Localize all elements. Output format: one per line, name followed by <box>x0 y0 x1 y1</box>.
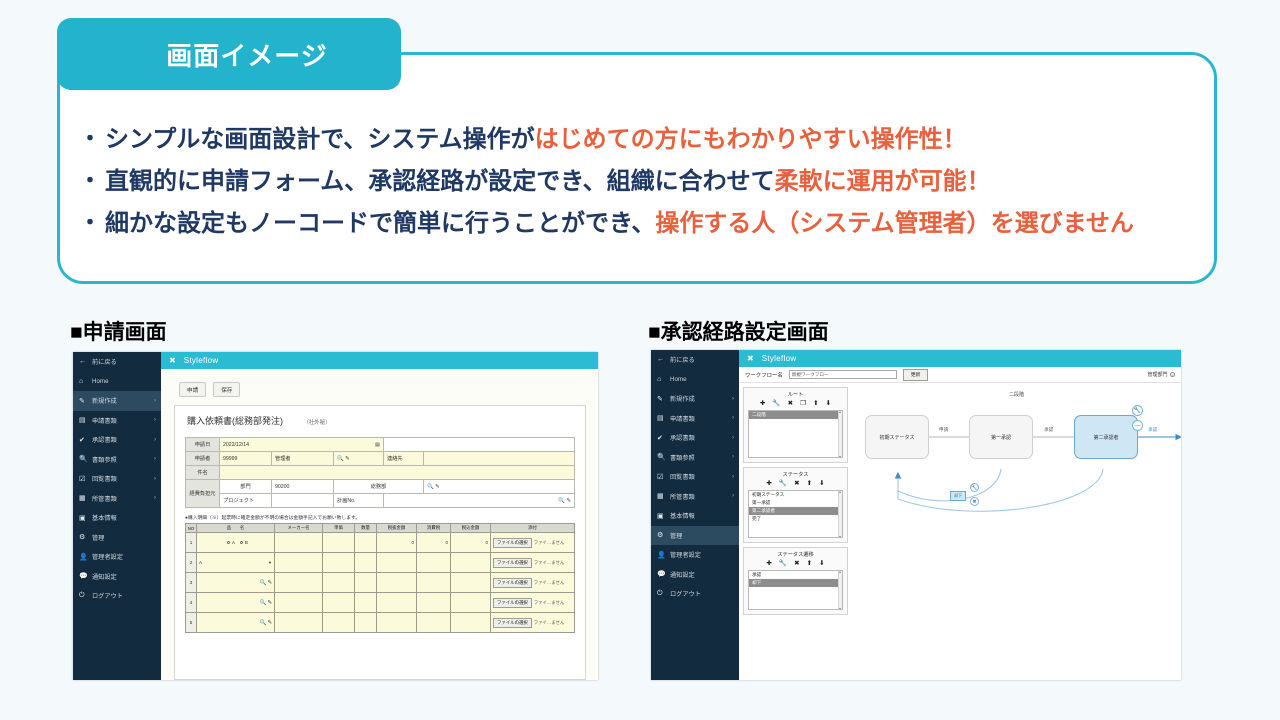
document-icon: ▤ <box>79 416 92 424</box>
bullet-item: ・ 直観的に申請フォーム、承認経路が設定でき、組織に合わせて 柔軟に運用が可能！ <box>75 170 1195 194</box>
list-item[interactable]: 完了 <box>749 515 842 523</box>
search-icon[interactable]: 🔍 <box>259 620 266 626</box>
close-icon[interactable]: ✖ <box>169 356 176 365</box>
chat-icon: 💬 <box>79 572 92 580</box>
delete-icon[interactable]: ✖ <box>794 559 800 567</box>
field-value-applicant-name: 管理者 <box>272 452 334 466</box>
id-card-icon: ▣ <box>79 514 92 522</box>
field-label-cost-owner: 経費負担元 <box>186 480 220 508</box>
pencil-icon[interactable]: ✎ <box>345 456 350 462</box>
sidebar-item-label: 承認書類 <box>670 433 732 442</box>
sidebar-item-jurisdiction[interactable]: ▦ 所管書類 › <box>73 489 161 509</box>
radio-b-icon[interactable] <box>240 541 243 544</box>
sidebar-item-admin-settings[interactable]: 👤 管理者設定 <box>651 545 739 565</box>
column-header-name: 品 名 <box>197 524 275 533</box>
chevron-right-icon: › <box>154 476 156 482</box>
panel-title-route: ルート <box>744 388 847 399</box>
bullet-marker: ・ <box>75 170 105 192</box>
sidebar-item-admin[interactable]: ⚙ 管理 <box>73 528 161 548</box>
add-icon[interactable]: ✚ <box>766 559 772 567</box>
cell-tax <box>417 573 451 593</box>
cell-incl-tax: 0 <box>451 533 491 553</box>
list-item[interactable]: 第一承認 <box>749 499 842 507</box>
cell-price[interactable] <box>323 553 355 573</box>
cell-attachment: ファイルの選択ファイ…ません <box>491 573 575 593</box>
cell-attachment: ファイルの選択ファイ…ません <box>491 533 575 553</box>
panel-toolbar: ✚ 🔧 ✖ ⬆ ⬇ <box>744 479 847 490</box>
checkbox-icon: ☑ <box>657 473 670 481</box>
sidebar-item-label: 通知設定 <box>92 572 156 581</box>
sidebar-item-label: 所管書類 <box>92 494 154 503</box>
chevron-right-icon: › <box>732 474 734 480</box>
search-icon: 🔍 <box>657 453 670 461</box>
sidebar-item-label: 管理者設定 <box>670 550 734 559</box>
cell-no: 2 <box>186 553 197 573</box>
save-button[interactable]: 保存 <box>213 382 240 397</box>
panel-toolbar: ✚ 🔧 ✖ ⬆ ⬇ <box>744 559 847 570</box>
sidebar-item-label: 前に戻る <box>670 355 734 364</box>
empty-cell <box>384 438 575 452</box>
sidebar-item-approvals[interactable]: ✔ 承認書類 › <box>73 430 161 450</box>
sidebar-item-approvals[interactable]: ✔ 承認書類 › <box>651 428 739 448</box>
bullet-text-plain: 細かな設定もノーコードで簡単に行うことができ、 <box>105 212 655 236</box>
calendar-icon[interactable]: ▤ <box>375 442 380 448</box>
status-panel: ステータス ✚ 🔧 ✖ ⬆ ⬇ 初期ステータス 第一承認 第二承認者 完了 <box>743 467 848 543</box>
file-select-button[interactable]: ファイルの選択 <box>493 578 532 588</box>
wrench-icon[interactable]: 🔧 <box>779 559 787 567</box>
move-up-icon[interactable]: ⬆ <box>813 399 819 407</box>
cell-attachment: ファイルの選択ファイ…ません <box>491 593 575 613</box>
sidebar-item-label: 書類参照 <box>92 455 154 464</box>
section-heading-route: ■承認経路設定画面 <box>648 316 829 346</box>
sidebar-item-label: 管理 <box>92 533 156 542</box>
delete-icon[interactable]: ✖ <box>794 479 800 487</box>
grid-icon: ▦ <box>79 494 92 502</box>
column-header-no: NO <box>186 524 197 533</box>
column-header-attachment: 添付 <box>491 524 575 533</box>
cell-excl-tax <box>377 593 417 613</box>
close-icon[interactable]: ✖ <box>747 354 754 363</box>
bullet-item: ・ 細かな設定もノーコードで簡単に行うことができ、 操作する人（システム管理者）… <box>75 212 1195 236</box>
radio-a-icon[interactable] <box>227 541 230 544</box>
search-icon[interactable]: 🔍 <box>337 456 344 462</box>
date-value-text: 2022/12/14 <box>223 442 249 448</box>
route-tool-panels: ルート ✚ 🔧 ✖ ❐ ⬆ ⬇ 二段階 ステータス ✚ 🔧 <box>743 387 848 619</box>
sidebar-item-label: 申請書類 <box>92 416 154 425</box>
sidebar-item-reference[interactable]: 🔍 書類参照 › <box>651 448 739 468</box>
app-header: ✖ Styleflow <box>161 352 598 369</box>
list-item[interactable]: 第二承認者 <box>749 507 842 515</box>
form-subtitle: （社外秘） <box>304 420 331 426</box>
search-icon: 🔍 <box>79 455 92 463</box>
workflow-toolbar: ワークフロー名 新規ワークフロー 更新 管理部門 i <box>739 367 1181 383</box>
form-panel: 購入依頼書(総務部発注) （社外秘） 申請日 2022/12/14 ▤ 申請者 … <box>174 405 586 680</box>
status-transition-panel: ステータス遷移 ✚ 🔧 ✖ ⬆ ⬇ 承認 却下 <box>743 547 848 615</box>
request-screen-screenshot: ← 前に戻る ⌂ Home ✎ 新規作成 › ▤ 申請書類 › ✔ 承認書類 ›… <box>73 352 598 680</box>
user-icon: 👤 <box>657 551 670 559</box>
chevron-right-icon: › <box>154 437 156 443</box>
callout-tab: 画面イメージ <box>57 18 401 90</box>
id-card-icon: ▣ <box>657 512 670 520</box>
sidebar-item-label: 承認書類 <box>92 435 154 444</box>
status-list[interactable]: 初期ステータス 第一承認 第二承認者 完了 <box>748 490 843 538</box>
table-row: 4 🔍 ✎ ファイルの選択ファイ…ません <box>186 593 575 613</box>
pencil-icon[interactable]: ✎ <box>267 580 272 586</box>
wrench-icon[interactable]: 🔧 <box>779 479 787 487</box>
edge-delete-icon[interactable]: ✖ <box>970 497 979 506</box>
pencil-icon[interactable]: ✎ <box>566 498 571 504</box>
file-status-text: ファイ…ません <box>534 600 565 605</box>
edge-label-approve-2: 承認 <box>1148 427 1157 433</box>
cell-tax <box>417 613 451 633</box>
table-row: 申請者 99999 管理者 🔍 ✎ 連絡先 <box>186 452 575 466</box>
panel-title-status: ステータス <box>744 468 847 479</box>
form-action-buttons: 申請 保存 <box>179 382 240 397</box>
column-header-incl-tax: 税込金額 <box>451 524 491 533</box>
cell-no: 1 <box>186 533 197 553</box>
bullet-item: ・ シンプルな画面設計で、システム操作が はじめての方にもわかりやすい操作性！ <box>75 128 1195 152</box>
field-label-department: 部門 <box>220 480 272 494</box>
pencil-icon: ✎ <box>657 395 670 403</box>
checkbox-icon: ☑ <box>79 475 92 483</box>
table-row: プロジェクト 計画No. 🔍 ✎ <box>186 494 575 508</box>
document-icon: ▤ <box>657 414 670 422</box>
radio-a-label: A <box>232 540 235 545</box>
file-status-text: ファイ…ません <box>534 620 565 625</box>
search-icon[interactable]: 🔍 <box>427 484 434 490</box>
cell-no: 5 <box>186 613 197 633</box>
table-row: 3 🔍 ✎ ファイルの選択ファイ…ません <box>186 573 575 593</box>
bullet-text-highlight: はじめての方にもわかりやすい操作性！ <box>535 128 967 152</box>
sidebar-item-label: 管理者設定 <box>92 552 156 561</box>
edge-label-approve-1: 承認 <box>1044 427 1053 433</box>
edge-label-apply: 申請 <box>939 427 948 433</box>
field-label-plan-no: 計画No. <box>334 494 384 508</box>
pencil-icon[interactable]: ✎ <box>435 484 440 490</box>
check-icon: ✔ <box>657 434 670 442</box>
chevron-right-icon: › <box>732 415 734 421</box>
update-button[interactable]: 更新 <box>903 369 929 381</box>
cell-incl-tax <box>451 573 491 593</box>
user-icon: 👤 <box>79 553 92 561</box>
list-item[interactable]: 承認 <box>749 571 842 579</box>
workflow-name-input[interactable]: 新規ワークフロー <box>789 370 897 379</box>
field-label-date: 申請日 <box>186 438 220 452</box>
node-label: 第一承認 <box>991 434 1011 441</box>
app-header: ✖ Styleflow <box>739 350 1181 367</box>
chevron-right-icon: › <box>154 398 156 404</box>
sidebar-left: ← 前に戻る ⌂ Home ✎ 新規作成 › ▤ 申請書類 › ✔ 承認書類 ›… <box>73 352 161 680</box>
bullet-list: ・ シンプルな画面設計で、システム操作が はじめての方にもわかりやすい操作性！ … <box>75 128 1195 254</box>
route-panel: ルート ✚ 🔧 ✖ ❐ ⬆ ⬇ 二段階 <box>743 387 848 463</box>
sidebar-item-label: ログアウト <box>92 591 156 600</box>
cell-price[interactable] <box>323 573 355 593</box>
chevron-right-icon: › <box>154 417 156 423</box>
sidebar-item-applications[interactable]: ▤ 申請書類 › <box>651 409 739 429</box>
chevron-right-icon: › <box>732 435 734 441</box>
file-select-button[interactable]: ファイルの選択 <box>493 598 532 608</box>
field-label-subject: 件名 <box>186 466 220 480</box>
sidebar-right: ← 前に戻る ⌂ Home ✎ 新規作成 › ▤ 申請書類 › ✔ 承認書類 ›… <box>651 350 739 680</box>
sidebar-item-label: 基本情報 <box>92 513 156 522</box>
sidebar-item-label: 新規作成 <box>92 396 154 405</box>
scrollbar[interactable] <box>838 491 842 537</box>
route-setting-screen-screenshot: ← 前に戻る ⌂ Home ✎ 新規作成 › ▤ 申請書類 › ✔ 承認書類 ›… <box>651 350 1181 680</box>
pencil-icon: ✎ <box>79 397 92 405</box>
submit-button[interactable]: 申請 <box>179 382 206 397</box>
field-value-date[interactable]: 2022/12/14 ▤ <box>220 438 384 452</box>
cell-price[interactable] <box>323 613 355 633</box>
sidebar-item-label: ログアウト <box>670 589 734 598</box>
cell-no: 3 <box>186 573 197 593</box>
workflow-node-initial[interactable]: 初期ステータス <box>865 415 929 459</box>
chat-icon: 💬 <box>657 570 670 578</box>
sidebar-item-label: 前に戻る <box>92 357 156 366</box>
table-row: 2 A▼ ファイルの選択ファイ…ません <box>186 553 575 573</box>
edge-edit-wrench-icon[interactable]: 🔧 <box>970 483 979 492</box>
workflow-node-second-approver[interactable]: 第二承認者 <box>1074 415 1138 459</box>
cell-maker[interactable] <box>275 613 323 633</box>
table-header-row: NO 品 名 メーカー名 単価 数量 税抜金額 消費税 税込金額 添付 <box>186 524 575 533</box>
request-form-body: 申請 保存 購入依頼書(総務部発注) （社外秘） 申請日 2022/12/14 … <box>161 369 598 680</box>
radio-b-label: B <box>245 540 248 545</box>
owner-department-label: 管理部門 <box>1147 371 1167 378</box>
move-down-icon[interactable]: ⬇ <box>819 559 825 567</box>
sidebar-item-label: 基本情報 <box>670 511 734 520</box>
column-header-qty: 数量 <box>355 524 377 533</box>
pencil-icon[interactable]: ✎ <box>267 620 272 626</box>
cell-maker[interactable] <box>275 593 323 613</box>
chevron-right-icon: › <box>732 396 734 402</box>
sidebar-item-reference[interactable]: 🔍 書類参照 › <box>73 450 161 470</box>
search-icon[interactable]: 🔍 <box>259 580 266 586</box>
cell-tax <box>417 593 451 613</box>
cell-qty[interactable] <box>355 593 377 613</box>
arrow-left-icon: ← <box>657 356 670 363</box>
node-label: 初期ステータス <box>879 434 914 441</box>
chevron-down-icon[interactable]: ▼ <box>268 560 272 565</box>
sidebar-item-label: 回覧書類 <box>670 472 732 481</box>
file-status-text: ファイ…ません <box>534 540 565 545</box>
scrollbar[interactable] <box>838 411 842 457</box>
callout-tab-label: 画面イメージ <box>130 36 327 73</box>
node-label: 第二承認者 <box>1093 434 1118 441</box>
edge-label-reject[interactable]: 却下 <box>950 491 966 501</box>
cell-name[interactable]: A B <box>197 533 275 553</box>
search-icon[interactable]: 🔍 <box>259 600 266 606</box>
field-label-contact: 連絡先 <box>384 452 424 466</box>
canvas-route-title: 二段階 <box>1009 391 1024 398</box>
sidebar-item-admin-settings[interactable]: 👤 管理者設定 <box>73 547 161 567</box>
cell-price[interactable] <box>323 533 355 553</box>
sidebar-item-label: 申請書類 <box>670 414 732 423</box>
workflow-canvas[interactable]: 二段階 初期ステータス 第一承認 第二承認者 申請 承認 承認 🔧 — 却下 🔧… <box>851 387 1181 680</box>
move-down-icon[interactable]: ⬇ <box>819 479 825 487</box>
home-icon: ⌂ <box>657 376 670 383</box>
file-status-text: ファイ…ません <box>534 560 565 565</box>
department-lookup-cell[interactable]: 🔍 ✎ <box>424 480 575 494</box>
sidebar-item-label: Home <box>92 378 156 385</box>
sidebar-item-notifications[interactable]: 💬 通知設定 <box>73 567 161 587</box>
file-select-button[interactable]: ファイルの選択 <box>493 618 532 628</box>
file-select-button[interactable]: ファイルの選択 <box>493 538 532 548</box>
arrow-left-icon: ← <box>79 358 92 365</box>
owner-department: 管理部門 i <box>1147 371 1175 378</box>
sidebar-item-new[interactable]: ✎ 新規作成 › <box>73 391 161 411</box>
copy-icon[interactable]: ❐ <box>800 399 806 407</box>
column-header-tax: 消費税 <box>417 524 451 533</box>
cell-incl-tax <box>451 553 491 573</box>
cell-qty[interactable] <box>355 573 377 593</box>
info-icon[interactable]: i <box>1170 372 1176 378</box>
sidebar-item-logout[interactable]: ⏻ ログアウト <box>73 586 161 606</box>
grid-icon: ▦ <box>657 492 670 500</box>
sidebar-item-back[interactable]: ← 前に戻る <box>73 352 161 372</box>
cell-maker[interactable] <box>275 573 323 593</box>
section-heading-request: ■申請画面 <box>70 316 167 346</box>
table-row: 1 A B 0 0 0 ファイルの選択ファイ…ません <box>186 533 575 553</box>
sidebar-item-applications[interactable]: ▤ 申請書類 › <box>73 411 161 431</box>
column-header-maker: メーカー名 <box>275 524 323 533</box>
move-down-icon[interactable]: ⬇ <box>826 399 832 407</box>
node-collapse-icon[interactable]: — <box>1132 420 1143 431</box>
route-setting-body: ワークフロー名 新規ワークフロー 更新 管理部門 i ルート ✚ 🔧 ✖ ❐ ⬆… <box>739 367 1181 680</box>
list-item[interactable]: 初期ステータス <box>749 491 842 499</box>
bullet-marker: ・ <box>75 212 105 234</box>
sidebar-item-label: 書類参照 <box>670 453 732 462</box>
purchase-items-table: NO 品 名 メーカー名 単価 数量 税抜金額 消費税 税込金額 添付 1 A … <box>185 523 575 633</box>
add-icon[interactable]: ✚ <box>766 479 772 487</box>
cell-incl-tax <box>451 613 491 633</box>
pencil-icon[interactable]: ✎ <box>267 600 272 606</box>
app-brand: Styleflow <box>762 354 797 363</box>
panel-toolbar: ✚ 🔧 ✖ ❐ ⬆ ⬇ <box>744 399 847 410</box>
sidebar-item-notifications[interactable]: 💬 通知設定 <box>651 565 739 585</box>
sidebar-item-label: 回覧書類 <box>92 474 154 483</box>
cell-tax: 0 <box>417 533 451 553</box>
table-row: 件名 <box>186 466 575 480</box>
sidebar-item-label: 新規作成 <box>670 394 732 403</box>
cell-excl-tax <box>377 573 417 593</box>
field-value-department-name: 総務部 <box>334 480 424 494</box>
cell-name[interactable]: 🔍 ✎ <box>197 593 275 613</box>
field-label-applicant: 申請者 <box>186 452 220 466</box>
sidebar-item-label: Home <box>670 376 734 383</box>
bullet-text-highlight: 柔軟に運用が可能！ <box>775 170 991 194</box>
table-row: 5 🔍 ✎ ファイルの選択ファイ…ません <box>186 613 575 633</box>
node-edit-wrench-icon[interactable]: 🔧 <box>1132 405 1143 416</box>
route-list[interactable]: 二段階 <box>748 410 843 458</box>
bullet-text-highlight: 操作する人（システム管理者）を選びません <box>655 212 1134 236</box>
cell-attachment: ファイルの選択ファイ…ません <box>491 613 575 633</box>
chevron-right-icon: › <box>154 495 156 501</box>
sidebar-item-basic-info[interactable]: ▣ 基本情報 <box>651 506 739 526</box>
workflow-node-first-approval[interactable]: 第一承認 <box>969 415 1033 459</box>
logout-icon: ⏻ <box>79 592 92 600</box>
field-value-department-code[interactable]: 90200 <box>272 480 334 494</box>
chevron-right-icon: › <box>732 454 734 460</box>
table-row: 申請日 2022/12/14 ▤ <box>186 438 575 452</box>
wrench-icon[interactable]: 🔧 <box>772 399 780 407</box>
column-header-price: 単価 <box>323 524 355 533</box>
plan-lookup-cell[interactable]: 🔍 ✎ <box>384 494 575 508</box>
search-icon[interactable]: 🔍 <box>558 498 565 504</box>
home-icon: ⌂ <box>79 378 92 385</box>
chevron-right-icon: › <box>732 493 734 499</box>
field-value-contact[interactable] <box>424 452 575 466</box>
purchase-detail-note: ●購入明細（※）起票時に確定金額が不明の場合は金額手記入でお願い致します。 <box>185 514 585 521</box>
file-select-button[interactable]: ファイルの選択 <box>493 558 532 568</box>
applicant-lookup-cell[interactable]: 🔍 ✎ <box>334 452 384 466</box>
field-value-project[interactable] <box>272 494 334 508</box>
field-label-project: プロジェクト <box>220 494 272 508</box>
sidebar-item-logout[interactable]: ⏻ ログアウト <box>651 584 739 604</box>
sidebar-item-label: 通知設定 <box>670 570 734 579</box>
cell-qty[interactable] <box>355 613 377 633</box>
sidebar-item-basic-info[interactable]: ▣ 基本情報 <box>73 508 161 528</box>
file-status-text: ファイ…ません <box>534 580 565 585</box>
table-row: 経費負担元 部門 90200 総務部 🔍 ✎ <box>186 480 575 494</box>
cell-name-text: A <box>199 560 202 565</box>
cell-incl-tax <box>451 593 491 613</box>
add-icon[interactable]: ✚ <box>760 399 766 407</box>
cell-excl-tax <box>377 553 417 573</box>
cell-maker[interactable] <box>275 553 323 573</box>
list-item[interactable]: 二段階 <box>749 411 842 419</box>
field-value-applicant-code[interactable]: 99999 <box>220 452 272 466</box>
sidebar-item-circulation[interactable]: ☑ 回覧書類 › <box>73 469 161 489</box>
form-title: 購入依頼書(総務部発注) <box>187 416 283 426</box>
app-brand: Styleflow <box>184 356 219 365</box>
cell-name[interactable]: 🔍 ✎ <box>197 613 275 633</box>
cell-excl-tax <box>377 613 417 633</box>
gear-icon: ⚙ <box>657 531 670 539</box>
sidebar-item-admin[interactable]: ⚙ 管理 <box>651 526 739 546</box>
cell-name[interactable]: A▼ <box>197 553 275 573</box>
sidebar-item-back[interactable]: ← 前に戻る <box>651 350 739 370</box>
move-up-icon[interactable]: ⬆ <box>807 559 813 567</box>
sidebar-item-new[interactable]: ✎ 新規作成 › <box>651 389 739 409</box>
workflow-name-label: ワークフロー名 <box>745 371 783 379</box>
bullet-text-plain: シンプルな画面設計で、システム操作が <box>105 128 535 152</box>
cell-qty[interactable] <box>355 533 377 553</box>
bullet-text-plain: 直観的に申請フォーム、承認経路が設定でき、組織に合わせて <box>105 170 775 194</box>
cell-qty[interactable] <box>355 553 377 573</box>
transition-list[interactable]: 承認 却下 <box>748 570 843 610</box>
cell-name[interactable]: 🔍 ✎ <box>197 573 275 593</box>
check-icon: ✔ <box>79 436 92 444</box>
sidebar-item-circulation[interactable]: ☑ 回覧書類 › <box>651 467 739 487</box>
sidebar-item-jurisdiction[interactable]: ▦ 所管書類 › <box>651 487 739 507</box>
cell-maker[interactable] <box>275 533 323 553</box>
sidebar-item-label: 管理 <box>670 531 734 540</box>
gear-icon: ⚙ <box>79 533 92 541</box>
list-item[interactable]: 却下 <box>749 579 842 587</box>
cell-tax <box>417 553 451 573</box>
cell-no: 4 <box>186 593 197 613</box>
panel-title-transition: ステータス遷移 <box>744 548 847 559</box>
bullet-marker: ・ <box>75 128 105 150</box>
field-value-subject[interactable] <box>220 466 575 480</box>
delete-icon[interactable]: ✖ <box>788 399 794 407</box>
move-up-icon[interactable]: ⬆ <box>807 479 813 487</box>
chevron-right-icon: › <box>154 456 156 462</box>
scrollbar[interactable] <box>838 571 842 609</box>
cell-excl-tax: 0 <box>377 533 417 553</box>
cell-price[interactable] <box>323 593 355 613</box>
sidebar-item-home[interactable]: ⌂ Home <box>651 370 739 390</box>
sidebar-item-home[interactable]: ⌂ Home <box>73 372 161 392</box>
